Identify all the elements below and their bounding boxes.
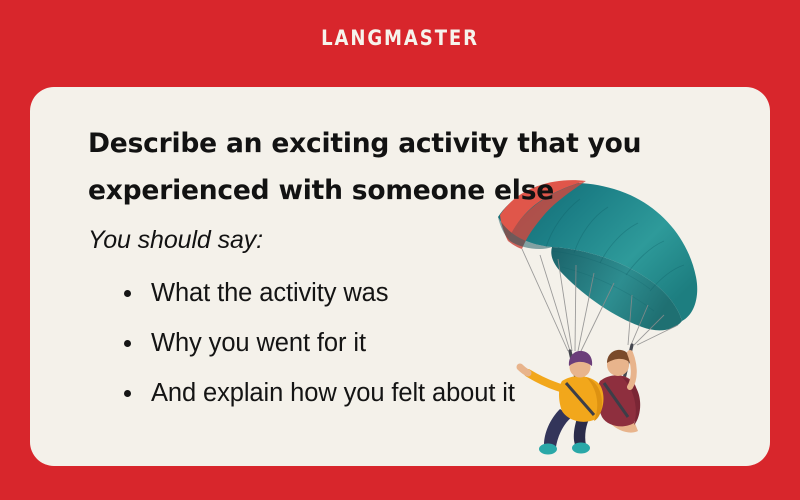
- slide-root: LANGMASTER: [0, 0, 800, 500]
- front-passenger: [520, 351, 603, 455]
- list-item-label: And explain how you felt about it: [151, 379, 515, 407]
- bullet-dot-icon: [124, 340, 131, 347]
- list-item-label: What the activity was: [151, 279, 388, 307]
- rear-pilot: [597, 350, 640, 433]
- page-title: Describe an exciting activity that you e…: [88, 120, 688, 214]
- paraglider-figures: [520, 350, 640, 455]
- content-card: Describe an exciting activity that you e…: [30, 87, 770, 466]
- bullet-dot-icon: [124, 290, 131, 297]
- bullet-dot-icon: [124, 390, 131, 397]
- brand-logo: LANGMASTER: [56, 28, 744, 49]
- list-item-label: Why you went for it: [151, 329, 366, 357]
